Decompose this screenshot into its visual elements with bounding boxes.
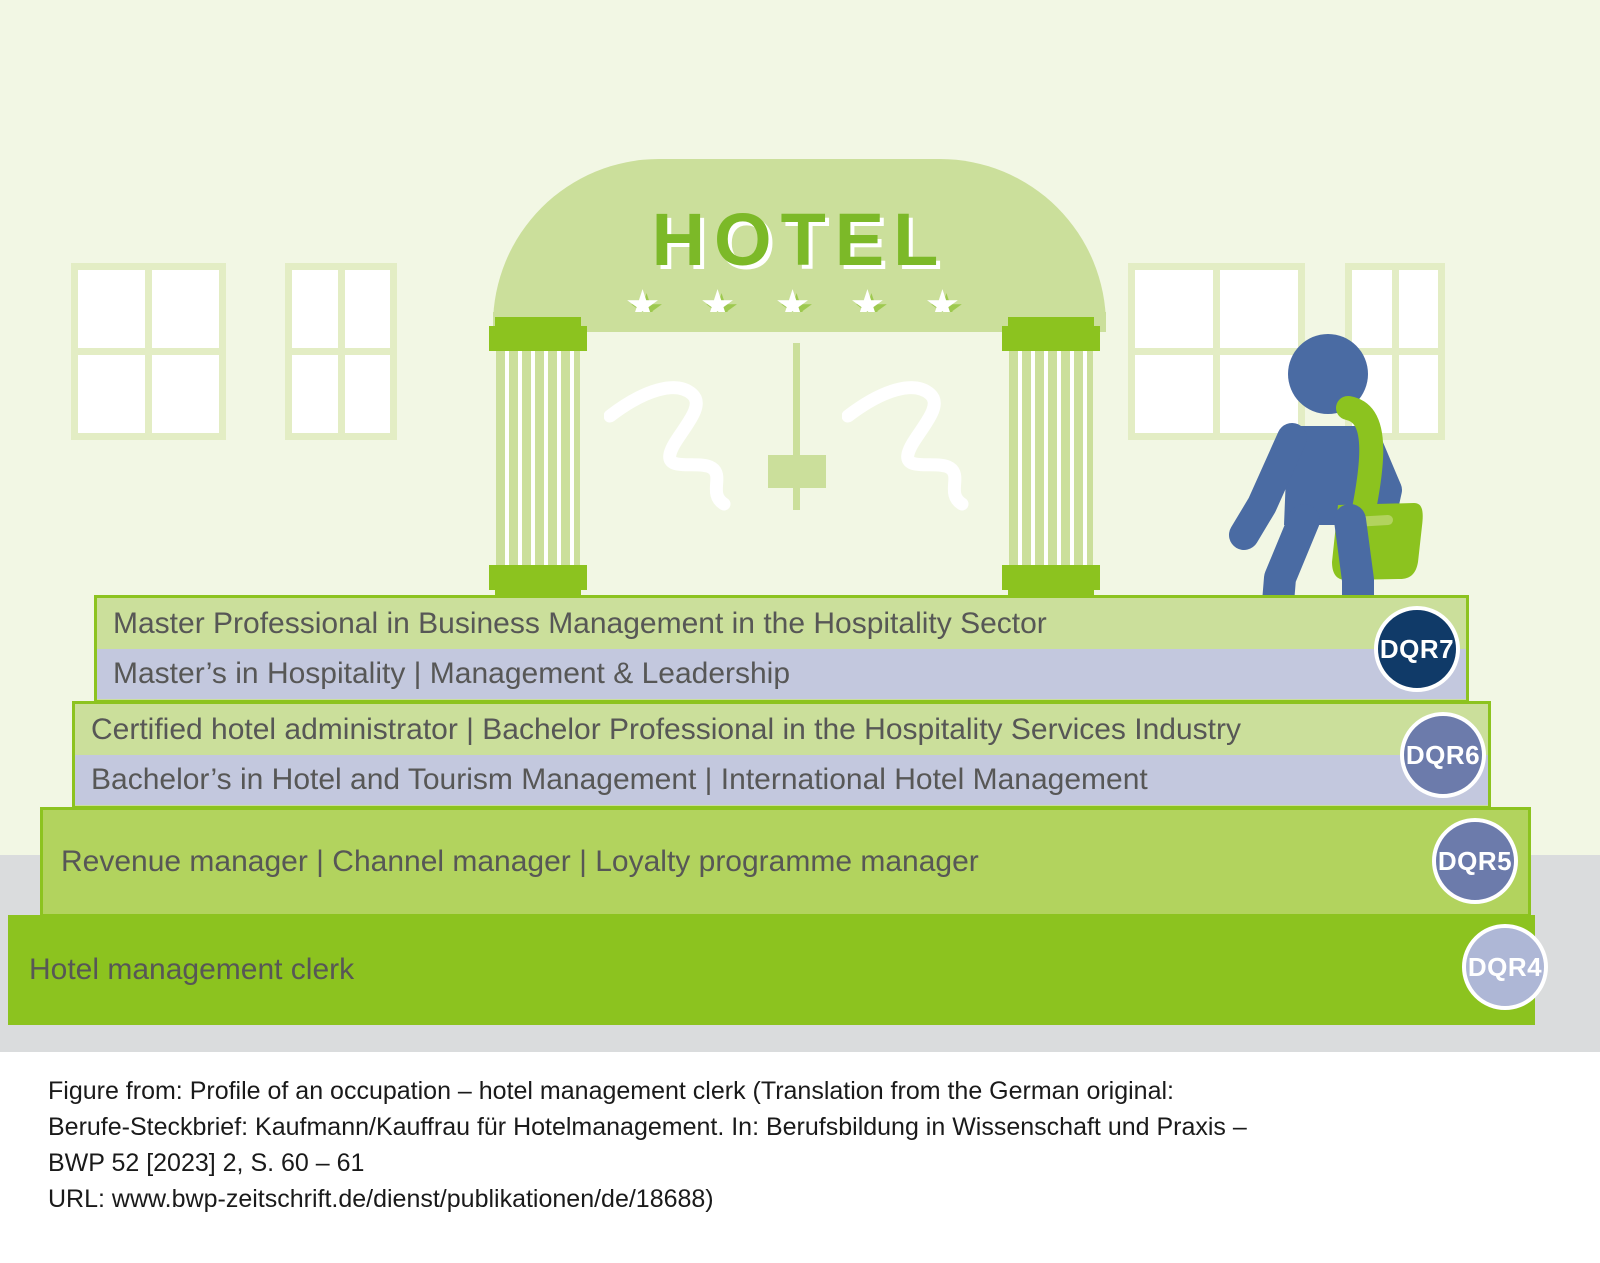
step-row: Master Professional in Business Manageme… (97, 599, 1466, 649)
illustration-scene: HOTEL ★ ★ ★ ★ ★ (0, 0, 1600, 1052)
step-row: Master’s in Hospitality | Management & L… (97, 649, 1466, 699)
stair-step-dqr6[interactable]: Certified hotel administrator | Bachelor… (72, 701, 1491, 809)
caption-line-2: Berufe-Steckbrief: Kaufmann/Kauffrau für… (48, 1109, 1528, 1145)
status-badge-dqr4[interactable]: DQR4 (1462, 924, 1548, 1010)
status-badge-dqr6[interactable]: DQR6 (1400, 712, 1486, 798)
stair-step-dqr7[interactable]: Master Professional in Business Manageme… (94, 595, 1469, 703)
status-badge-dqr7[interactable]: DQR7 (1374, 606, 1460, 692)
step-row: Certified hotel administrator | Bachelor… (75, 705, 1488, 755)
figure-caption: Figure from: Profile of an occupation – … (48, 1073, 1528, 1217)
step-row: Bachelor’s in Hotel and Tourism Manageme… (75, 755, 1488, 805)
stair-step-dqr5[interactable]: Revenue manager | Channel manager | Loya… (40, 807, 1531, 917)
step-label: Hotel management clerk (11, 953, 1532, 987)
caption-line-3: BWP 52 [2023] 2, S. 60 – 61 (48, 1145, 1528, 1181)
caption-line-1: Figure from: Profile of an occupation – … (48, 1073, 1528, 1109)
staircase: Master Professional in Business Manageme… (0, 0, 1600, 1052)
status-badge-dqr5[interactable]: DQR5 (1432, 818, 1518, 904)
caption-line-4: URL: www.bwp-zeitschrift.de/dienst/publi… (48, 1181, 1528, 1217)
infographic-page: Advancement opportunities for hotel mana… (0, 0, 1600, 1263)
step-label: Revenue manager | Channel manager | Loya… (43, 845, 1528, 879)
stair-step-dqr4[interactable]: Hotel management clerk (8, 915, 1535, 1025)
